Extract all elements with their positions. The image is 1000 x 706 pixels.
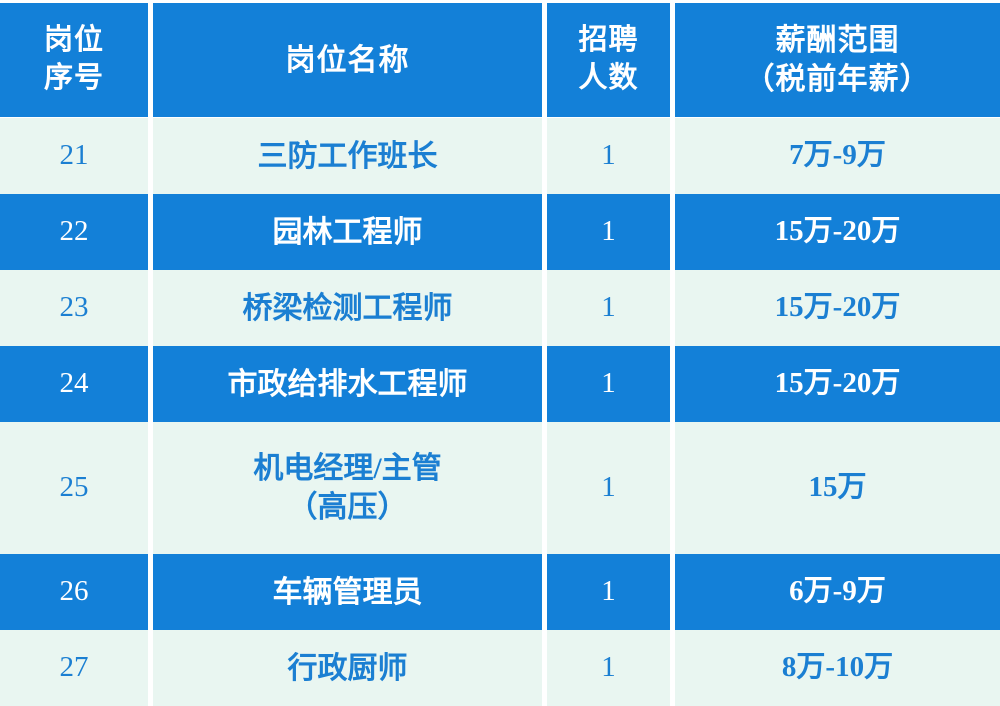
table-row: 25 机电经理/主管 （高压） 1 15万 xyxy=(0,422,1000,554)
cell-salary: 6万-9万 xyxy=(675,554,1000,630)
index-value: 22 xyxy=(60,213,89,250)
cell-name: 车辆管理员 xyxy=(153,554,542,630)
count-value: 1 xyxy=(601,137,616,174)
name-line1: 车辆管理员 xyxy=(273,573,423,612)
header-index-line1: 岗位 xyxy=(44,22,104,60)
header-cell-index: 岗位 序号 xyxy=(0,3,148,117)
cell-salary: 8万-10万 xyxy=(675,630,1000,706)
salary-value: 15万-20万 xyxy=(775,289,901,326)
cell-name: 行政厨师 xyxy=(153,630,542,706)
count-value: 1 xyxy=(601,573,616,610)
index-value: 23 xyxy=(60,289,89,326)
count-value: 1 xyxy=(601,365,616,402)
table-row: 21 三防工作班长 1 7万-9万 xyxy=(0,118,1000,194)
cell-count: 1 xyxy=(547,118,670,194)
salary-value: 6万-9万 xyxy=(789,573,886,610)
cell-salary: 15万-20万 xyxy=(675,270,1000,346)
cell-salary: 7万-9万 xyxy=(675,118,1000,194)
header-cell-salary: 薪酬范围 （税前年薪） xyxy=(675,3,1000,117)
header-count-line1: 招聘 xyxy=(578,22,638,60)
cell-count: 1 xyxy=(547,554,670,630)
table-row: 22 园林工程师 1 15万-20万 xyxy=(0,194,1000,270)
cell-name: 桥梁检测工程师 xyxy=(153,270,542,346)
cell-index: 25 xyxy=(0,422,148,554)
cell-salary: 15万-20万 xyxy=(675,346,1000,422)
header-cell-count: 招聘 人数 xyxy=(547,3,670,117)
cell-index: 22 xyxy=(0,194,148,270)
count-value: 1 xyxy=(601,649,616,686)
header-cell-name: 岗位名称 xyxy=(153,3,542,117)
index-value: 27 xyxy=(60,649,89,686)
cell-index: 21 xyxy=(0,118,148,194)
salary-value: 15万-20万 xyxy=(775,213,901,250)
table-row: 23 桥梁检测工程师 1 15万-20万 xyxy=(0,270,1000,346)
cell-name: 市政给排水工程师 xyxy=(153,346,542,422)
name-line2: （高压） xyxy=(288,488,408,527)
salary-value: 7万-9万 xyxy=(789,137,886,174)
table-header-row: 岗位 序号 岗位名称 招聘 人数 薪酬范围 （税前年薪） xyxy=(0,3,1000,117)
salary-value: 8万-10万 xyxy=(782,649,893,686)
header-salary-line2: （税前年薪） xyxy=(745,60,931,99)
salary-value: 15万-20万 xyxy=(775,365,901,402)
cell-index: 24 xyxy=(0,346,148,422)
index-value: 25 xyxy=(60,469,89,506)
cell-count: 1 xyxy=(547,346,670,422)
cell-index: 26 xyxy=(0,554,148,630)
cell-count: 1 xyxy=(547,630,670,706)
header-count-line2: 人数 xyxy=(578,60,638,98)
header-index-line2: 序号 xyxy=(44,60,104,98)
cell-salary: 15万 xyxy=(675,422,1000,554)
cell-name: 机电经理/主管 （高压） xyxy=(153,422,542,554)
index-value: 26 xyxy=(60,573,89,610)
table-row: 24 市政给排水工程师 1 15万-20万 xyxy=(0,346,1000,422)
cell-name: 三防工作班长 xyxy=(153,118,542,194)
table-row: 27 行政厨师 1 8万-10万 xyxy=(0,630,1000,706)
name-line1: 园林工程师 xyxy=(273,213,423,252)
name-line1: 行政厨师 xyxy=(288,649,408,688)
cell-salary: 15万-20万 xyxy=(675,194,1000,270)
count-value: 1 xyxy=(601,213,616,250)
cell-count: 1 xyxy=(547,194,670,270)
header-salary-line1: 薪酬范围 xyxy=(776,21,900,60)
index-value: 24 xyxy=(60,365,89,402)
name-line1: 三防工作班长 xyxy=(258,137,438,176)
cell-count: 1 xyxy=(547,422,670,554)
job-listing-table: 岗位 序号 岗位名称 招聘 人数 薪酬范围 （税前年薪） 21 xyxy=(0,0,1000,706)
count-value: 1 xyxy=(601,469,616,506)
name-line1: 机电经理/主管 xyxy=(253,449,441,488)
name-line1: 市政给排水工程师 xyxy=(228,365,468,404)
cell-count: 1 xyxy=(547,270,670,346)
table-row: 26 车辆管理员 1 6万-9万 xyxy=(0,554,1000,630)
cell-index: 23 xyxy=(0,270,148,346)
header-name-line1: 岗位名称 xyxy=(286,41,410,80)
cell-index: 27 xyxy=(0,630,148,706)
index-value: 21 xyxy=(60,137,89,174)
cell-name: 园林工程师 xyxy=(153,194,542,270)
count-value: 1 xyxy=(601,289,616,326)
name-line1: 桥梁检测工程师 xyxy=(243,289,453,328)
salary-value: 15万 xyxy=(808,469,866,506)
